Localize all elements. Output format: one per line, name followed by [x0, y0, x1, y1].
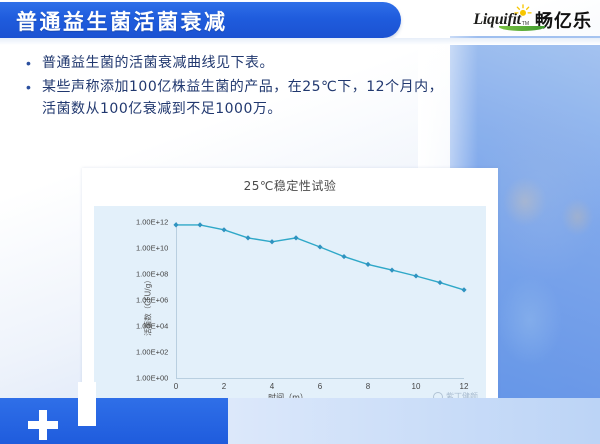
series-polyline — [176, 225, 464, 290]
series-data-point — [173, 222, 178, 227]
bullet-text: 某些声称添加100亿株益生菌的产品，在25℃下，12个月内，活菌数从100亿衰减… — [42, 76, 446, 120]
bullet-marker: • — [26, 52, 42, 74]
page-title: 普通益生菌活菌衰减 — [16, 6, 228, 36]
footer-bar-right — [228, 398, 600, 444]
footer-white-notch — [78, 382, 96, 426]
series-data-point — [365, 262, 370, 267]
series-data-point — [293, 235, 298, 240]
series-data-point — [437, 280, 442, 285]
series-data-point — [389, 268, 394, 273]
bullet-list: • 普通益生菌的活菌衰减曲线见下表。 • 某些声称添加100亿株益生菌的产品，在… — [26, 52, 446, 122]
header-underline — [0, 38, 600, 45]
series-data-point — [413, 273, 418, 278]
plus-cross-icon — [28, 410, 58, 440]
list-item: • 某些声称添加100亿株益生菌的产品，在25℃下，12个月内，活菌数从100亿… — [26, 76, 446, 120]
series-data-point — [461, 287, 466, 292]
bullet-marker: • — [26, 76, 42, 98]
series-data-point — [341, 254, 346, 259]
bullet-text: 普通益生菌的活菌衰减曲线见下表。 — [42, 52, 274, 74]
slide-canvas: 普通益生菌活菌衰减 Liquifit TM 畅亿乐 • 普通益生菌的 — [0, 0, 600, 444]
chart-title: 25℃稳定性试验 — [82, 177, 498, 194]
chart-card: 25℃稳定性试验 活菌数（CFU/g） 1.00E+121.00E+101.00… — [82, 168, 498, 416]
series-data-point — [317, 244, 322, 249]
series-data-point — [245, 235, 250, 240]
liquifit-logo: Liquifit TM — [473, 11, 529, 29]
chart-plot-area: 活菌数（CFU/g） 1.00E+121.00E+101.00E+081.00E… — [94, 206, 486, 406]
chart-series-line — [94, 206, 486, 406]
series-data-point — [269, 239, 274, 244]
series-data-point — [221, 227, 226, 232]
list-item: • 普通益生菌的活菌衰减曲线见下表。 — [26, 52, 446, 74]
brand-logo: Liquifit TM 畅亿乐 — [473, 6, 592, 34]
brand-chinese-name: 畅亿乐 — [535, 7, 592, 33]
series-data-point — [197, 222, 202, 227]
sun-burst-icon — [514, 4, 532, 20]
